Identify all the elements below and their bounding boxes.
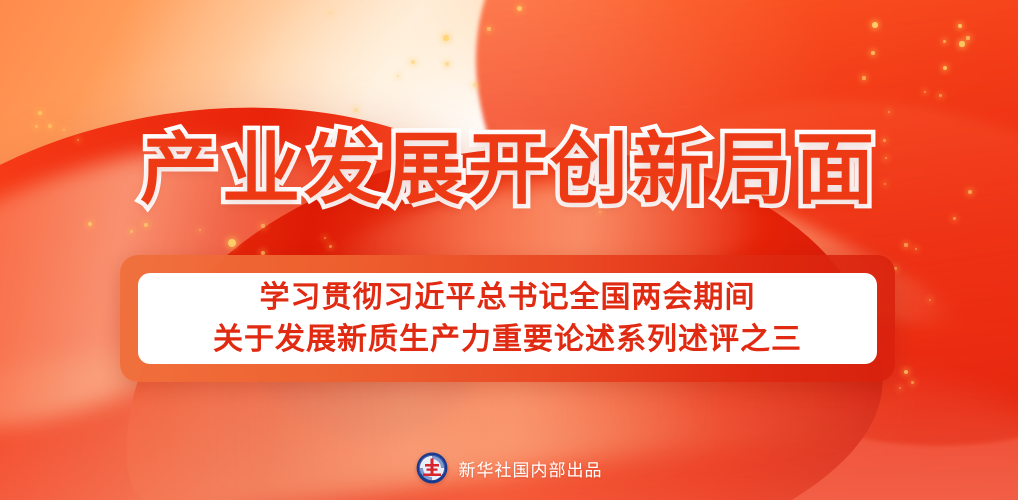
- sparkle-dot: [144, 223, 147, 226]
- sparkle-dot: [324, 237, 327, 240]
- sparkle-dot: [904, 243, 907, 246]
- sparkle-dot: [38, 111, 42, 115]
- footer-credit: 新华社国内部出品: [0, 452, 1018, 484]
- sparkle-dot: [929, 299, 932, 302]
- sparkle-dot: [924, 91, 927, 94]
- sparkle-dot: [517, 6, 522, 11]
- silk-ribbon-left: [0, 2, 691, 500]
- sparkle-dot: [872, 22, 878, 28]
- sparkle-dot: [329, 245, 332, 248]
- sparkle-dot: [261, 224, 264, 227]
- sparkle-dot: [871, 51, 875, 55]
- page-title: 产业发展开创新局面: [0, 126, 1018, 212]
- sparkle-dot: [130, 230, 133, 233]
- sparkle-dot: [445, 62, 449, 66]
- sparkle-dot: [904, 370, 908, 374]
- sparkle-dot: [911, 381, 914, 384]
- sparkle-dot: [487, 27, 490, 30]
- sparkle-dot: [473, 83, 477, 87]
- xinhua-emblem-icon: [416, 452, 448, 484]
- sparkle-dot: [953, 217, 956, 220]
- silk-ribbon-right: [372, 0, 1018, 500]
- sparkle-dot: [88, 222, 92, 226]
- sparkle-dot: [959, 41, 964, 46]
- subtitle-box: 学习贯彻习近平总书记全国两会期间 关于发展新质生产力重要论述系列述评之三: [138, 273, 877, 364]
- sparkle-dot: [397, 75, 400, 78]
- footer-text: 新华社国内部出品: [459, 456, 603, 481]
- sparkle-dot: [958, 24, 962, 28]
- subtitle-frame: 学习贯彻习近平总书记全国两会期间 关于发展新质生产力重要论述系列述评之三: [120, 255, 895, 382]
- sparkle-dot: [411, 60, 415, 64]
- sparkle-dot: [966, 36, 969, 39]
- sparkle-dot: [862, 76, 865, 79]
- sparkle-dot: [199, 229, 202, 232]
- sparkle-dot: [354, 108, 359, 113]
- sparkle-dot: [939, 94, 942, 97]
- sparkle-dot: [443, 35, 449, 41]
- sparkle-dot: [943, 66, 948, 71]
- sparkle-dot: [915, 248, 918, 251]
- subtitle-line-2: 关于发展新质生产力重要论述系列述评之三: [213, 320, 802, 360]
- sparkle-dot: [329, 12, 332, 15]
- sparkle-dot: [899, 387, 902, 390]
- sparkle-dot: [943, 40, 946, 43]
- subtitle-line-1: 学习贯彻习近平总书记全国两会期间: [260, 278, 756, 318]
- poster-canvas: 产业发展开创新局面 学习贯彻习近平总书记全国两会期间 关于发展新质生产力重要论述…: [0, 0, 1018, 500]
- sparkle-dot: [228, 239, 236, 247]
- sparkle-dot: [888, 111, 891, 114]
- silk-ribbon-right-2: [488, 0, 1018, 500]
